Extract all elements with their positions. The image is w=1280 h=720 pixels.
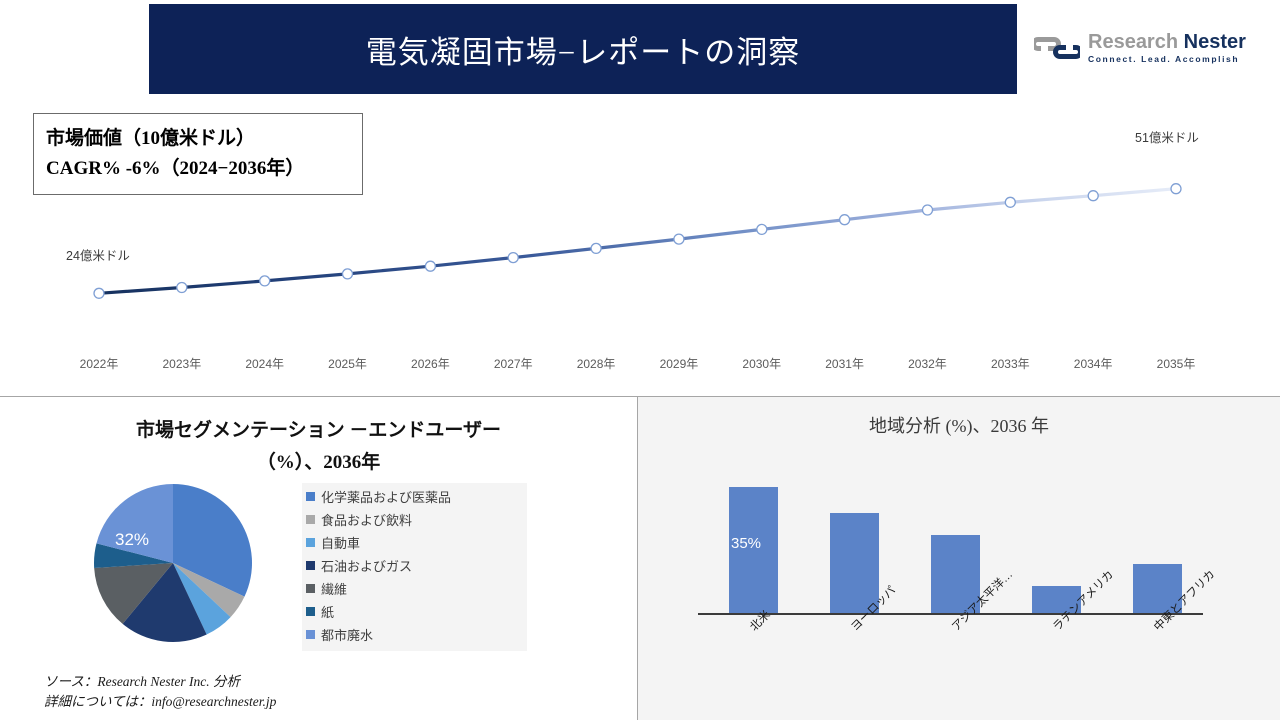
legend-swatch-icon (306, 607, 315, 616)
logo-name-nester: Nester (1184, 31, 1246, 53)
market-value-line-chart: 市場価値（10億米ドル） CAGR% -6%（2024−2036年） 24億米ド… (0, 96, 1280, 396)
legend-swatch-icon (306, 630, 315, 639)
line-data-point (1171, 184, 1181, 194)
legend-swatch-icon (306, 515, 315, 524)
title-band: 電気凝固市場−レポートの洞察 (149, 4, 1017, 94)
line-data-point (260, 276, 270, 286)
pie-highlight-label: 32% (115, 530, 149, 550)
legend-item-label: 繊維 (321, 579, 347, 598)
line-data-point (591, 243, 601, 253)
legend-item[interactable]: 紙 (306, 600, 527, 623)
x-axis-tick-label: 2023年 (162, 355, 201, 372)
page-title: 電気凝固市場−レポートの洞察 (366, 27, 800, 72)
source-footer: ソース：Research Nester Inc. 分析 詳細については：info… (44, 672, 276, 712)
legend-item[interactable]: 自動車 (306, 531, 527, 554)
line-data-point (1088, 191, 1098, 201)
legend-item[interactable]: 化学薬品および医薬品 (306, 485, 527, 508)
line-end-annotation: 51億米ドル (1135, 127, 1199, 146)
line-data-point (1005, 197, 1015, 207)
line-data-point (757, 224, 767, 234)
logo-name-research: Research (1088, 31, 1184, 53)
pie-chart (93, 483, 253, 643)
segmentation-title-line1: 市場セグメンテーション －エンドユーザー (136, 420, 501, 441)
pie-legend: 化学薬品および医薬品食品および飲料自動車石油およびガス繊維紙都市廃水 (302, 483, 527, 651)
market-value-line1: 市場価値（10億米ドル） (46, 124, 350, 154)
page-header: 電気凝固市場−レポートの洞察 Research Nester Connect. … (0, 0, 1280, 96)
line-data-point (177, 283, 187, 293)
market-value-line2: CAGR% -6%（2024−2036年） (46, 154, 350, 184)
regional-analysis-title: 地域分析 (%)、2036 年 (638, 412, 1280, 438)
line-data-point (674, 234, 684, 244)
line-data-point (508, 253, 518, 263)
x-axis-tick-label: 2032年 (908, 355, 947, 372)
legend-swatch-icon (306, 584, 315, 593)
brand-logo: Research Nester Connect. Lead. Accomplis… (1034, 24, 1260, 72)
legend-item-label: 食品および飲料 (321, 510, 412, 529)
x-axis-tick-label: 2025年 (328, 355, 367, 372)
x-axis-tick-label: 2027年 (494, 355, 533, 372)
legend-item-label: 化学薬品および医薬品 (321, 487, 451, 506)
x-axis-tick-label: 2035年 (1157, 355, 1196, 372)
legend-item[interactable]: 石油およびガス (306, 554, 527, 577)
legend-item[interactable]: 繊維 (306, 577, 527, 600)
market-value-box: 市場価値（10億米ドル） CAGR% -6%（2024−2036年） (33, 113, 363, 195)
segmentation-title: 市場セグメンテーション －エンドユーザー （%）、2036年 (0, 415, 637, 479)
x-axis-tick-label: 2029年 (660, 355, 699, 372)
x-axis-tick-label: 2026年 (411, 355, 450, 372)
x-axis-tick-label: 2024年 (245, 355, 284, 372)
bar-chart-x-axis: 北米ヨーロッパアジア太平洋…ラテンアメリカ中東とアフリカ (638, 615, 1280, 715)
segmentation-panel: 市場セグメンテーション －エンドユーザー （%）、2036年 32% 化学薬品お… (0, 397, 637, 720)
line-data-point (923, 205, 933, 215)
x-axis-tick-label: 2031年 (825, 355, 864, 372)
line-data-point (94, 288, 104, 298)
legend-item[interactable]: 都市廃水 (306, 623, 527, 646)
x-axis-tick-label: 2022年 (80, 355, 119, 372)
x-axis-tick-label: 2028年 (577, 355, 616, 372)
line-data-point (840, 215, 850, 225)
legend-item[interactable]: 食品および飲料 (306, 508, 527, 531)
bar-value-label: 35% (731, 535, 761, 552)
legend-item-label: 紙 (321, 602, 334, 621)
legend-item-label: 石油およびガス (321, 556, 412, 575)
bar-chart-plot: 35% (698, 469, 1223, 615)
legend-item-label: 都市廃水 (321, 625, 373, 644)
logo-name: Research Nester (1088, 32, 1246, 52)
regional-analysis-panel: 地域分析 (%)、2036 年 35% 北米ヨーロッパアジア太平洋…ラテンアメリ… (638, 397, 1280, 720)
line-chart-x-axis: 2022年2023年2024年2025年2026年2027年2028年2029年… (0, 355, 1280, 379)
logo-text: Research Nester Connect. Lead. Accomplis… (1088, 32, 1246, 64)
x-axis-tick-label: 2033年 (991, 355, 1030, 372)
legend-item-label: 自動車 (321, 533, 360, 552)
source-line-1: ソース：Research Nester Inc. 分析 (44, 672, 276, 692)
line-start-annotation: 24億米ドル (66, 245, 130, 264)
legend-swatch-icon (306, 561, 315, 570)
x-axis-tick-label: 2030年 (742, 355, 781, 372)
chain-link-icon (1034, 31, 1080, 65)
line-data-point (425, 261, 435, 271)
legend-swatch-icon (306, 492, 315, 501)
legend-swatch-icon (306, 538, 315, 547)
x-axis-tick-label: 2034年 (1074, 355, 1113, 372)
source-line-2: 詳細については：info@researchnester.jp (44, 692, 276, 712)
line-data-point (343, 269, 353, 279)
segmentation-title-line2: （%）、2036年 (0, 447, 637, 479)
logo-tagline: Connect. Lead. Accomplish (1088, 55, 1246, 64)
